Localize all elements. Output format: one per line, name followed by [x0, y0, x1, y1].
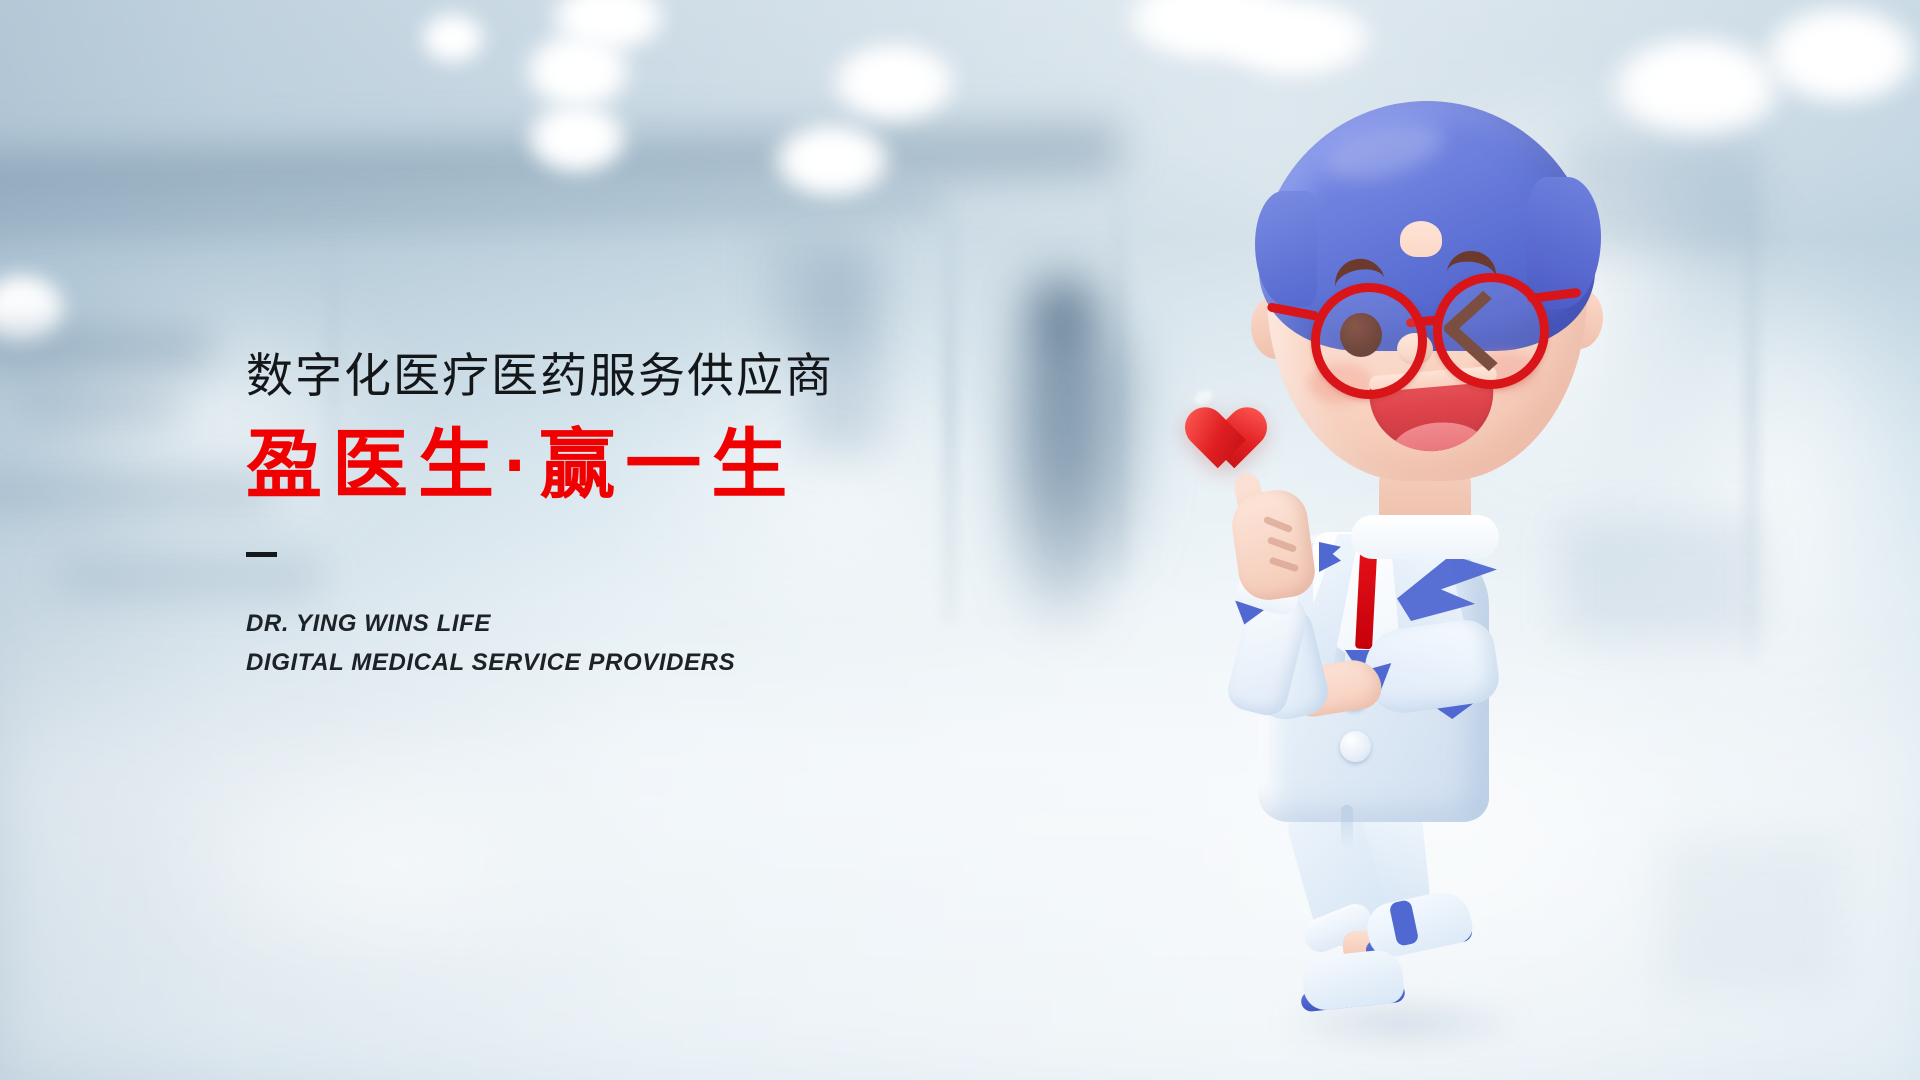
ceiling-lamp — [768, 118, 896, 202]
heart-icon — [1179, 378, 1247, 442]
round-glasses-icon — [1311, 283, 1427, 399]
background-furniture — [0, 470, 270, 514]
background-person-head — [1036, 280, 1090, 338]
background-person-secondary — [1086, 330, 1144, 570]
page-headline-cn: 数字化医疗医药服务供应商 — [246, 352, 1006, 399]
glass-wall-mullion — [1116, 180, 1123, 580]
glass-wall-mullion — [1748, 140, 1755, 660]
ceiling-lamp — [826, 38, 962, 126]
ceiling-lamp — [418, 10, 488, 66]
ceiling-lamp — [522, 98, 632, 178]
subtitle-en-line-1: DR. YING WINS LIFE — [246, 605, 1006, 644]
background-furniture — [0, 330, 210, 366]
mascot-shirt-collar — [1351, 515, 1499, 559]
mascot-doctor-illustration — [1175, 45, 1635, 1055]
hero-copy-block: 数字化医疗医药服务供应商 盈医生·赢一生 DR. YING WINS LIFE … — [246, 352, 1006, 683]
mascot-shoe-left — [1300, 948, 1405, 1012]
background-furniture — [20, 392, 180, 422]
page-slogan-cn: 盈医生·赢一生 — [246, 428, 1006, 504]
hero-banner: 数字化医疗医药服务供应商 盈医生·赢一生 DR. YING WINS LIFE … — [0, 0, 1920, 1080]
round-glasses-icon — [1433, 273, 1549, 389]
mascot-coat-hem-split — [1341, 805, 1353, 849]
ceiling-lamp — [1756, 0, 1920, 110]
dash-divider-icon — [246, 552, 277, 557]
subtitle-en-line-2: DIGITAL MEDICAL SERVICE PROVIDERS — [246, 644, 1006, 683]
mascot-coat-button — [1340, 731, 1371, 762]
subtitle-en-block: DR. YING WINS LIFE DIGITAL MEDICAL SERVI… — [246, 605, 1006, 683]
mascot-forehead-notch — [1400, 221, 1442, 257]
